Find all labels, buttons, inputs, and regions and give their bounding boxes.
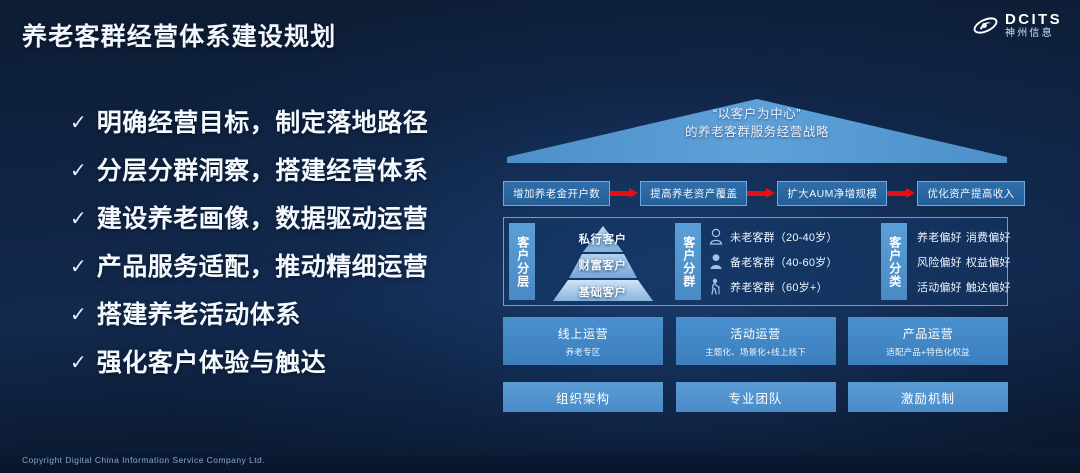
- list-item-label: 产品服务适配，推动精细运营: [97, 247, 429, 283]
- customer-tier-pyramid: 私行客户 财富客户 基础客户: [535, 218, 670, 305]
- key-points-list: ✓ 明确经营目标，制定落地路径 ✓ 分层分群洞察，搭建经营体系 ✓ 建设养老画像…: [70, 103, 470, 391]
- check-icon: ✓: [70, 353, 87, 373]
- preference-item: 触达偏好: [966, 279, 1011, 295]
- goal-chip[interactable]: 扩大AUM净增规模: [777, 181, 887, 206]
- list-item-label: 备老客群（40-60岁）: [730, 254, 838, 270]
- tier-label: 客户分层: [509, 223, 535, 300]
- brand-logo-text: DCITS 神州信息: [1005, 12, 1062, 39]
- customer-preference-grid: 养老偏好 消费偏好 风险偏好 权益偏好 活动偏好 触达偏好: [907, 218, 1017, 305]
- brand-logo: DCITS 神州信息: [972, 12, 1062, 39]
- list-item: ✓ 分层分群洞察，搭建经营体系: [70, 151, 470, 199]
- operation-title: 产品运营: [903, 325, 953, 342]
- person-adult-icon: [709, 253, 723, 270]
- preference-item: 风险偏好: [917, 254, 962, 270]
- list-item-label: 建设养老画像，数据驱动运营: [97, 199, 429, 235]
- operation-subtitle: 主题化、场景化+线上线下: [705, 346, 806, 358]
- operation-title: 线上运营: [558, 325, 608, 342]
- list-item-label: 搭建养老活动体系: [97, 295, 301, 331]
- list-item: 备老客群（40-60岁）: [709, 253, 876, 270]
- brand-name-en: DCITS: [1005, 12, 1062, 27]
- customer-insight-panel: 客户分层: [503, 217, 1008, 306]
- copyright-text: Copyright Digital China Information Serv…: [22, 455, 265, 465]
- list-item: 未老客群（20-40岁）: [709, 228, 876, 245]
- roof-caption-line2: 的养老客群服务经营战略: [507, 123, 1007, 141]
- tier-level-label: 财富客户: [535, 257, 670, 273]
- roof-caption: “以客户为中心” 的养老客群服务经营战略: [507, 105, 1007, 141]
- list-item: ✓ 明确经营目标，制定落地路径: [70, 103, 470, 151]
- check-icon: ✓: [70, 305, 87, 325]
- check-icon: ✓: [70, 113, 87, 133]
- tier-level-label: 基础客户: [535, 284, 670, 300]
- page-title: 养老客群经营体系建设规划: [22, 17, 336, 53]
- check-icon: ✓: [70, 257, 87, 277]
- dcits-swirl-logo-icon: [972, 12, 999, 39]
- operation-subtitle: 养老专区: [566, 346, 601, 358]
- list-item: ✓ 搭建养老活动体系: [70, 295, 470, 343]
- preference-item: 养老偏好: [917, 229, 962, 245]
- foundation-card[interactable]: 组织架构: [503, 382, 663, 412]
- check-icon: ✓: [70, 161, 87, 181]
- slide-canvas: 养老客群经营体系建设规划 DCITS 神州信息 ✓ 明确经营目标，制定落地路径 …: [0, 0, 1080, 473]
- foundation-card[interactable]: 专业团队: [676, 382, 836, 412]
- person-young-icon: [709, 228, 723, 245]
- list-item: ✓ 建设养老画像，数据驱动运营: [70, 199, 470, 247]
- foundation-row: 组织架构 专业团队 激励机制: [503, 382, 1008, 412]
- tier-level-label: 私行客户: [535, 231, 670, 247]
- strategy-roof: “以客户为中心” 的养老客群服务经营战略: [507, 95, 1007, 163]
- list-item-label: 明确经营目标，制定落地路径: [97, 103, 429, 139]
- roof-caption-line1: “以客户为中心”: [507, 105, 1007, 123]
- operations-row: 线上运营 养老专区 活动运营 主题化、场景化+线上线下 产品运营 适配产品+特色…: [503, 317, 1008, 365]
- footer-bar: Copyright Digital China Information Serv…: [0, 447, 1080, 473]
- brand-name-cn: 神州信息: [1005, 29, 1062, 39]
- goal-chip[interactable]: 增加养老金开户数: [503, 181, 610, 206]
- list-item: 养老客群（60岁+）: [709, 278, 876, 295]
- operation-card[interactable]: 线上运营 养老专区: [503, 317, 663, 365]
- segment-label: 客户分群: [675, 223, 701, 300]
- category-label: 客户分类: [881, 223, 907, 300]
- goal-chip[interactable]: 提高养老资产覆盖: [640, 181, 747, 206]
- operation-card[interactable]: 产品运营 适配产品+特色化权益: [848, 317, 1008, 365]
- preference-item: 消费偏好: [966, 229, 1011, 245]
- list-item-label: 未老客群（20-40岁）: [730, 229, 838, 245]
- list-item: ✓ 产品服务适配，推动精细运营: [70, 247, 470, 295]
- arrow-right-icon: [610, 188, 640, 198]
- list-item-label: 强化客户体验与触达: [97, 343, 327, 379]
- goal-chain: 增加养老金开户数 提高养老资产覆盖 扩大AUM净增规模 优化资产提高收入: [503, 180, 1008, 206]
- list-item-label: 养老客群（60岁+）: [730, 279, 828, 295]
- operation-title: 活动运营: [730, 325, 780, 342]
- arrow-right-icon: [887, 188, 917, 198]
- preference-item: 权益偏好: [966, 254, 1011, 270]
- arrow-right-icon: [747, 188, 777, 198]
- check-icon: ✓: [70, 209, 87, 229]
- operation-card[interactable]: 活动运营 主题化、场景化+线上线下: [676, 317, 836, 365]
- goal-chip[interactable]: 优化资产提高收入: [917, 181, 1024, 206]
- preference-item: 活动偏好: [917, 279, 962, 295]
- foundation-card[interactable]: 激励机制: [848, 382, 1008, 412]
- person-elderly-cane-icon: [709, 278, 723, 295]
- list-item: ✓ 强化客户体验与触达: [70, 343, 470, 391]
- strategy-house-diagram: “以客户为中心” 的养老客群服务经营战略 增加养老金开户数 提高养老资产覆盖 扩…: [495, 95, 1010, 425]
- list-item-label: 分层分群洞察，搭建经营体系: [97, 151, 429, 187]
- customer-segment-list: 未老客群（20-40岁） 备老客群（40-60岁）: [701, 218, 876, 305]
- operation-subtitle: 适配产品+特色化权益: [886, 346, 969, 358]
